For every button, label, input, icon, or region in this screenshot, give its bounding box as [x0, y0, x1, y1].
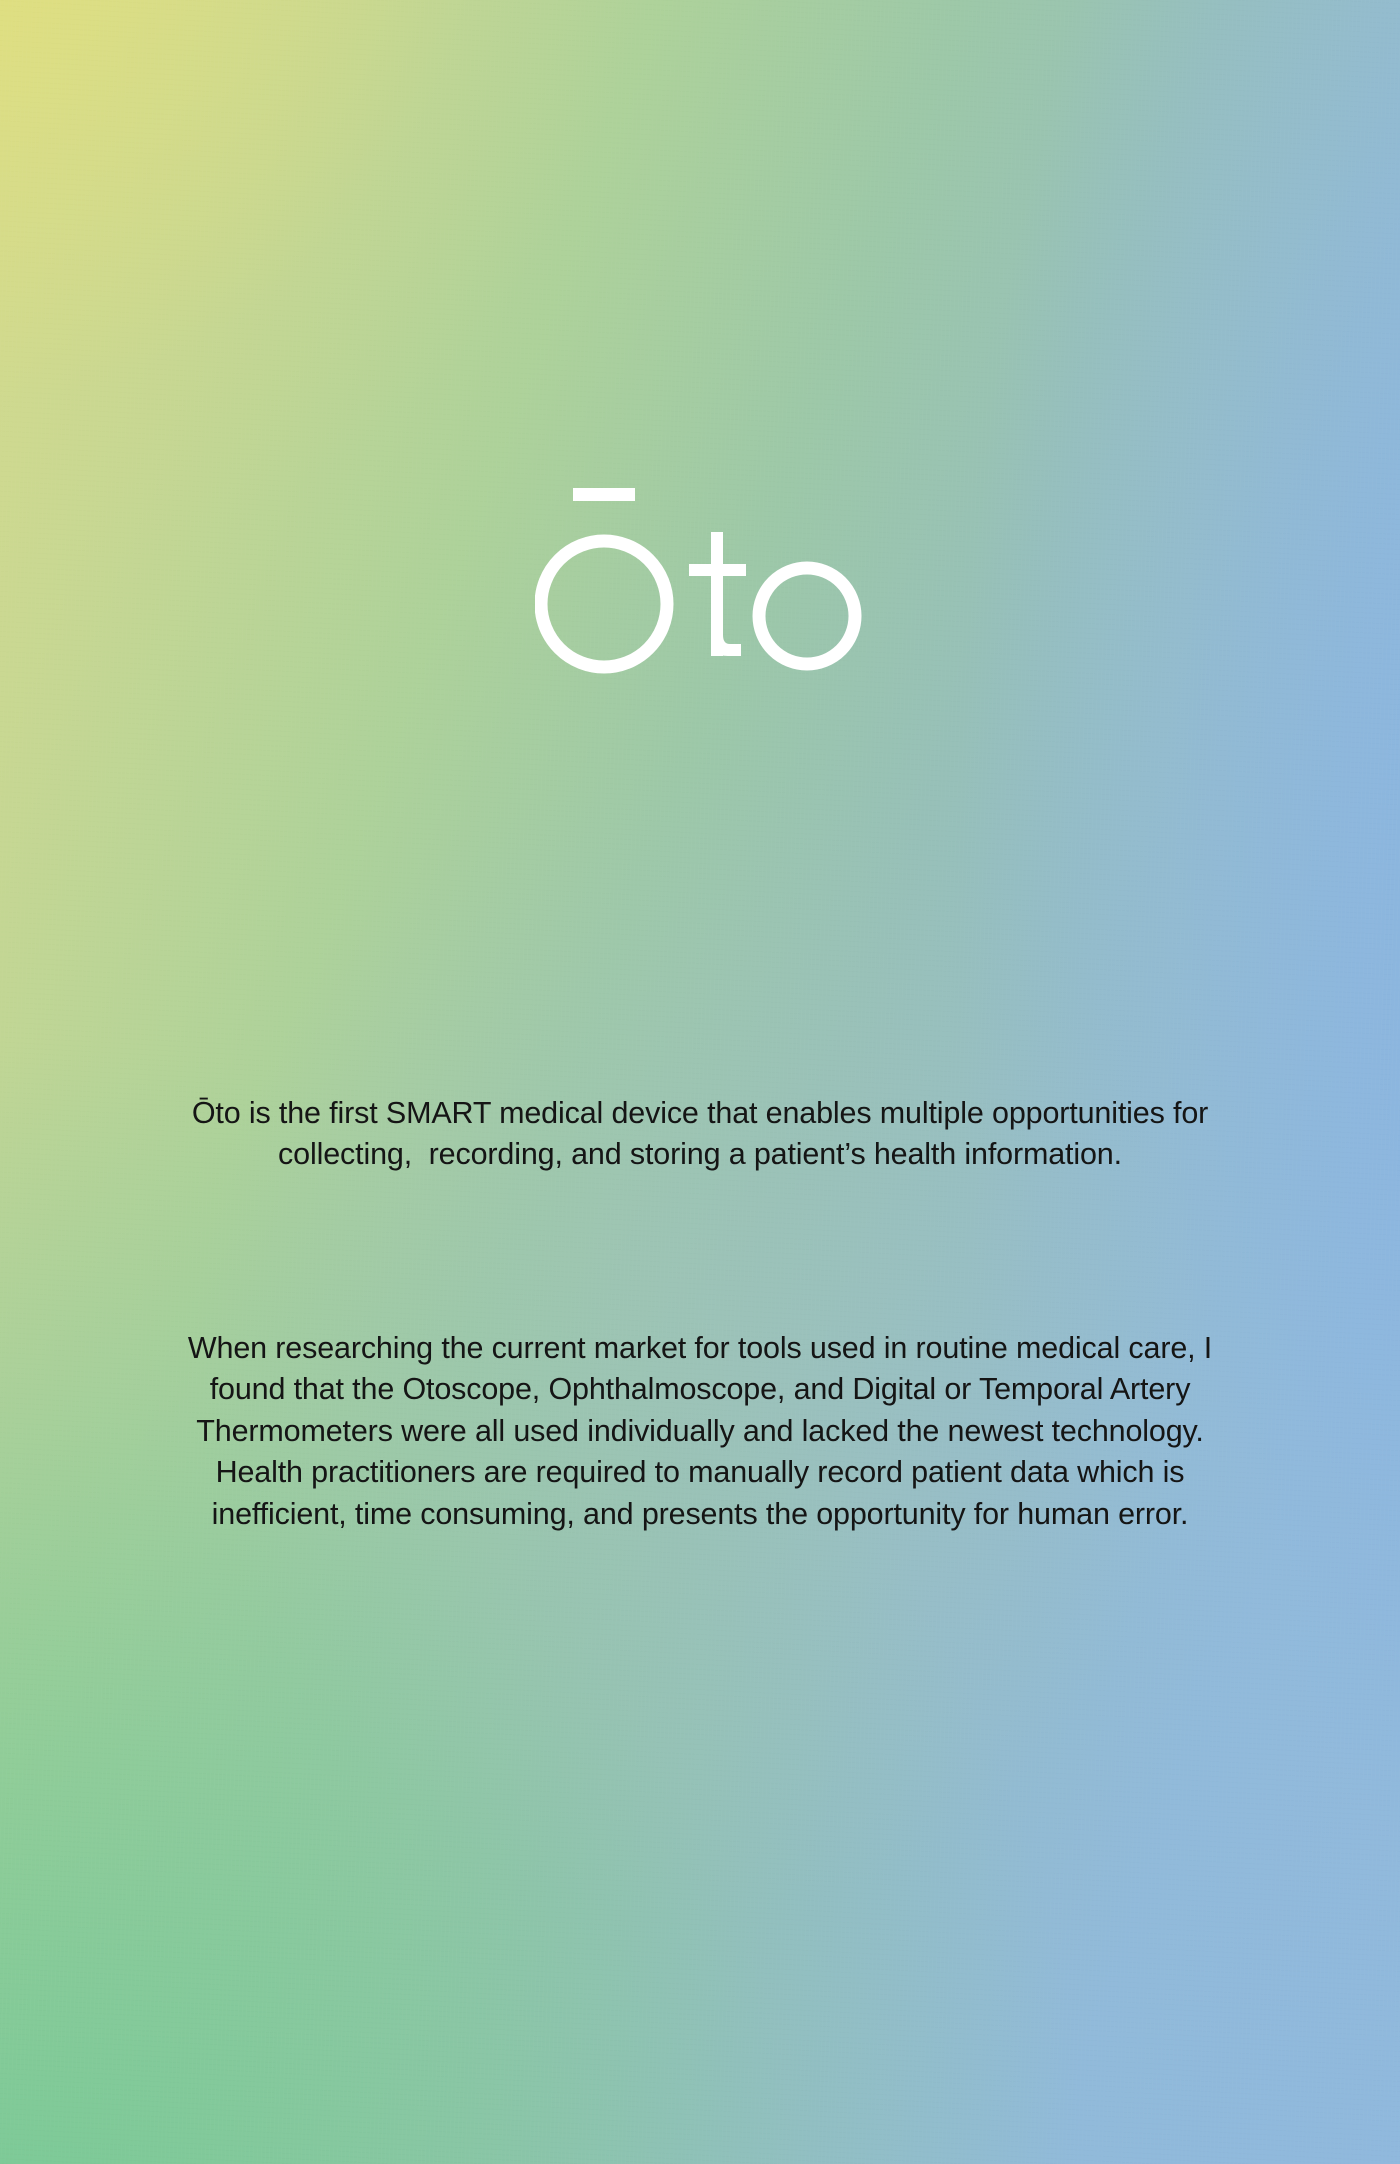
research-paragraph-block: When researching the current market for … [157, 1328, 1243, 1535]
background-grain-texture [0, 0, 1400, 2164]
intro-paragraph-text: Ōto is the first SMART medical device th… [157, 1093, 1243, 1176]
research-paragraph-text: When researching the current market for … [157, 1328, 1243, 1535]
intro-paragraph-block: Ōto is the first SMART medical device th… [157, 1093, 1243, 1176]
page-root: Ōto is the first SMART medical device th… [0, 0, 1400, 2164]
